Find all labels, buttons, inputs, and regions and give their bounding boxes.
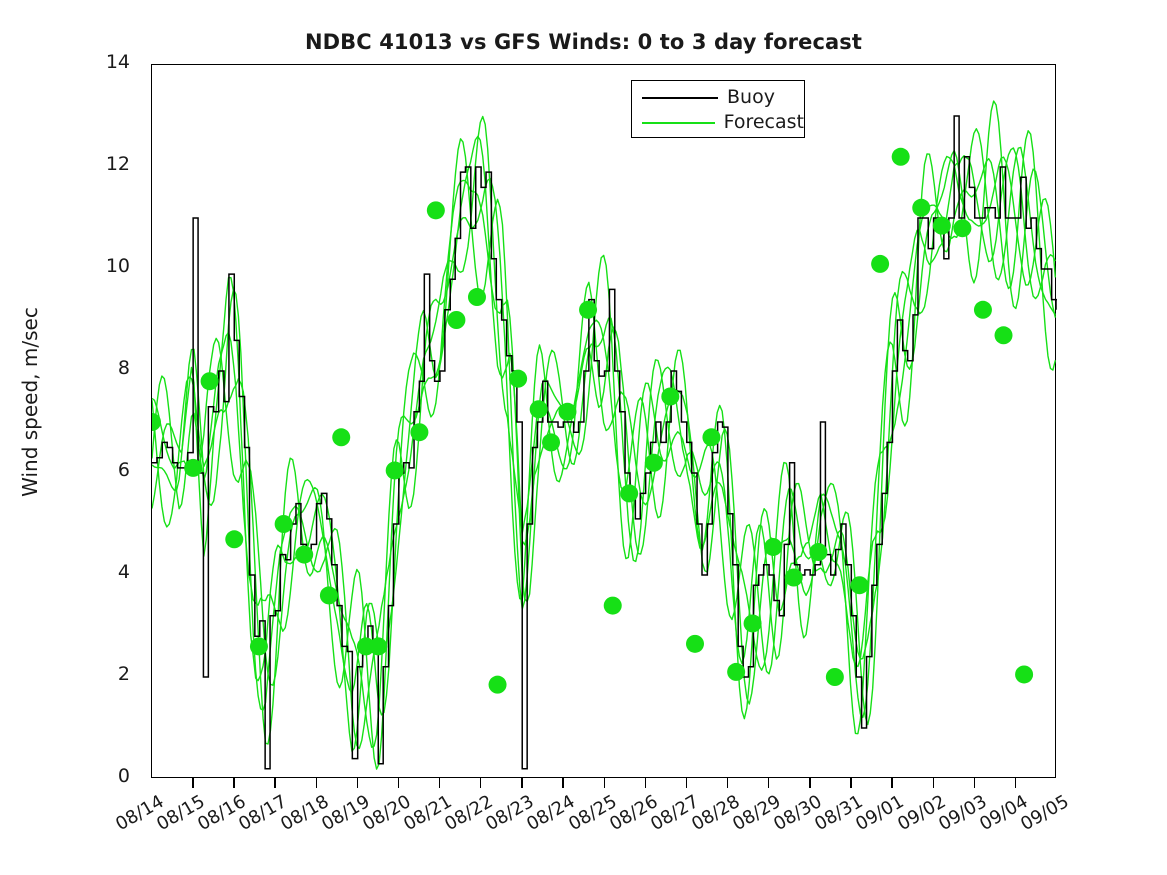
forecast-marker-dot — [871, 255, 889, 273]
x-tick-mark — [192, 778, 193, 788]
x-tick-mark — [891, 778, 892, 788]
forecast-marker-dot — [933, 217, 951, 235]
forecast-marker-dot — [953, 219, 971, 237]
x-tick-mark — [316, 778, 317, 788]
forecast-marker-dot — [912, 199, 930, 217]
forecast-marker-points — [152, 148, 1033, 694]
x-tick-mark — [233, 778, 234, 788]
forecast-marker-dot — [489, 676, 507, 694]
forecast-marker-dot — [427, 201, 445, 219]
forecast-marker-dot — [1015, 665, 1033, 683]
forecast-marker-dot — [468, 288, 486, 306]
x-tick-mark — [850, 778, 851, 788]
forecast-marker-dot — [542, 433, 560, 451]
forecast-marker-dot — [275, 515, 293, 533]
forecast-marker-dot — [369, 637, 387, 655]
forecast-marker-dot — [579, 301, 597, 319]
forecast-marker-dot — [686, 635, 704, 653]
forecast-marker-dot — [386, 461, 404, 479]
legend-label-forecast: Forecast — [724, 113, 804, 132]
chart-legend[interactable]: Buoy Forecast — [631, 80, 805, 138]
forecast-marker-dot — [604, 597, 622, 615]
x-tick-mark — [768, 778, 769, 788]
x-tick-mark — [398, 778, 399, 788]
forecast-marker-dot — [661, 388, 679, 406]
forecast-marker-dot — [974, 301, 992, 319]
forecast-line-member-1 — [152, 156, 1055, 714]
x-tick-mark — [480, 778, 481, 788]
forecast-marker-dot — [201, 372, 219, 390]
x-tick-mark — [933, 778, 934, 788]
x-tick-mark — [521, 778, 522, 788]
forecast-marker-dot — [995, 326, 1013, 344]
x-tick-mark — [727, 778, 728, 788]
forecast-marker-dot — [727, 663, 745, 681]
x-tick-mark — [645, 778, 646, 788]
x-tick-mark — [686, 778, 687, 788]
forecast-marker-dot — [152, 413, 161, 431]
x-tick-mark — [357, 778, 358, 788]
forecast-marker-dot — [892, 148, 910, 166]
x-tick-mark — [439, 778, 440, 788]
forecast-marker-dot — [702, 428, 720, 446]
legend-entry-buoy: Buoy — [632, 85, 804, 110]
forecast-marker-dot — [320, 586, 338, 604]
forecast-marker-dot — [509, 370, 527, 388]
forecast-marker-dot — [645, 454, 663, 472]
x-tick-mark — [604, 778, 605, 788]
forecast-marker-dot — [744, 614, 762, 632]
chart-figure: NDBC 41013 vs GFS Winds: 0 to 3 day fore… — [0, 0, 1167, 875]
forecast-line-member-2 — [152, 131, 1055, 748]
x-tick-mark — [974, 778, 975, 788]
forecast-marker-dot — [764, 538, 782, 556]
forecast-marker-dot — [558, 403, 576, 421]
legend-entry-forecast: Forecast — [632, 110, 804, 135]
legend-line-buoy-icon — [642, 97, 718, 99]
x-tick-mark — [809, 778, 810, 788]
chart-canvas — [152, 65, 1057, 779]
forecast-marker-dot — [410, 423, 428, 441]
legend-label-buoy: Buoy — [727, 88, 775, 107]
forecast-marker-dot — [620, 484, 638, 502]
forecast-marker-dot — [851, 576, 869, 594]
x-tick-mark — [562, 778, 563, 788]
x-tick-mark — [1015, 778, 1016, 788]
forecast-marker-dot — [447, 311, 465, 329]
forecast-marker-dot — [250, 637, 268, 655]
forecast-marker-dot — [295, 546, 313, 564]
forecast-marker-dot — [530, 400, 548, 418]
forecast-marker-dot — [332, 428, 350, 446]
forecast-marker-dot — [225, 530, 243, 548]
x-tick-mark — [274, 778, 275, 788]
legend-line-forecast-icon — [642, 122, 715, 124]
forecast-marker-dot — [785, 569, 803, 587]
forecast-marker-dot — [809, 543, 827, 561]
forecast-marker-dot — [826, 668, 844, 686]
forecast-marker-dot — [184, 459, 202, 477]
plot-area — [151, 64, 1056, 778]
